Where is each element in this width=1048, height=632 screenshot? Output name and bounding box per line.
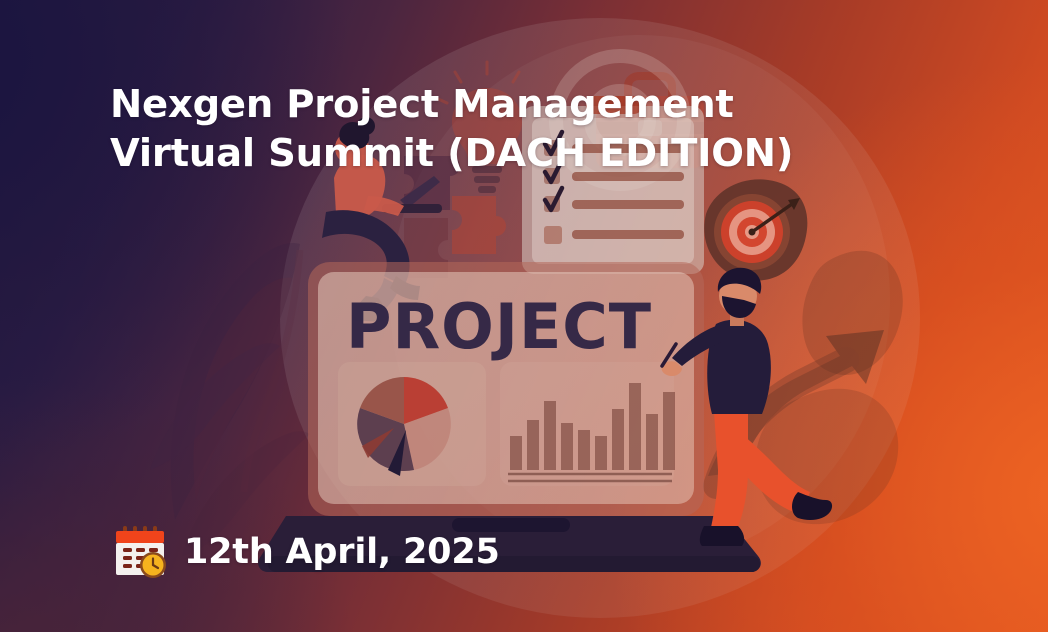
event-date-text: 12th April, 2025: [184, 535, 500, 570]
event-date: 12th April, 2025: [112, 524, 500, 580]
page-title: Nexgen Project Management Virtual Summit…: [110, 80, 830, 179]
calendar-clock-icon: [112, 524, 168, 580]
event-banner: PROJECT: [0, 0, 1048, 632]
